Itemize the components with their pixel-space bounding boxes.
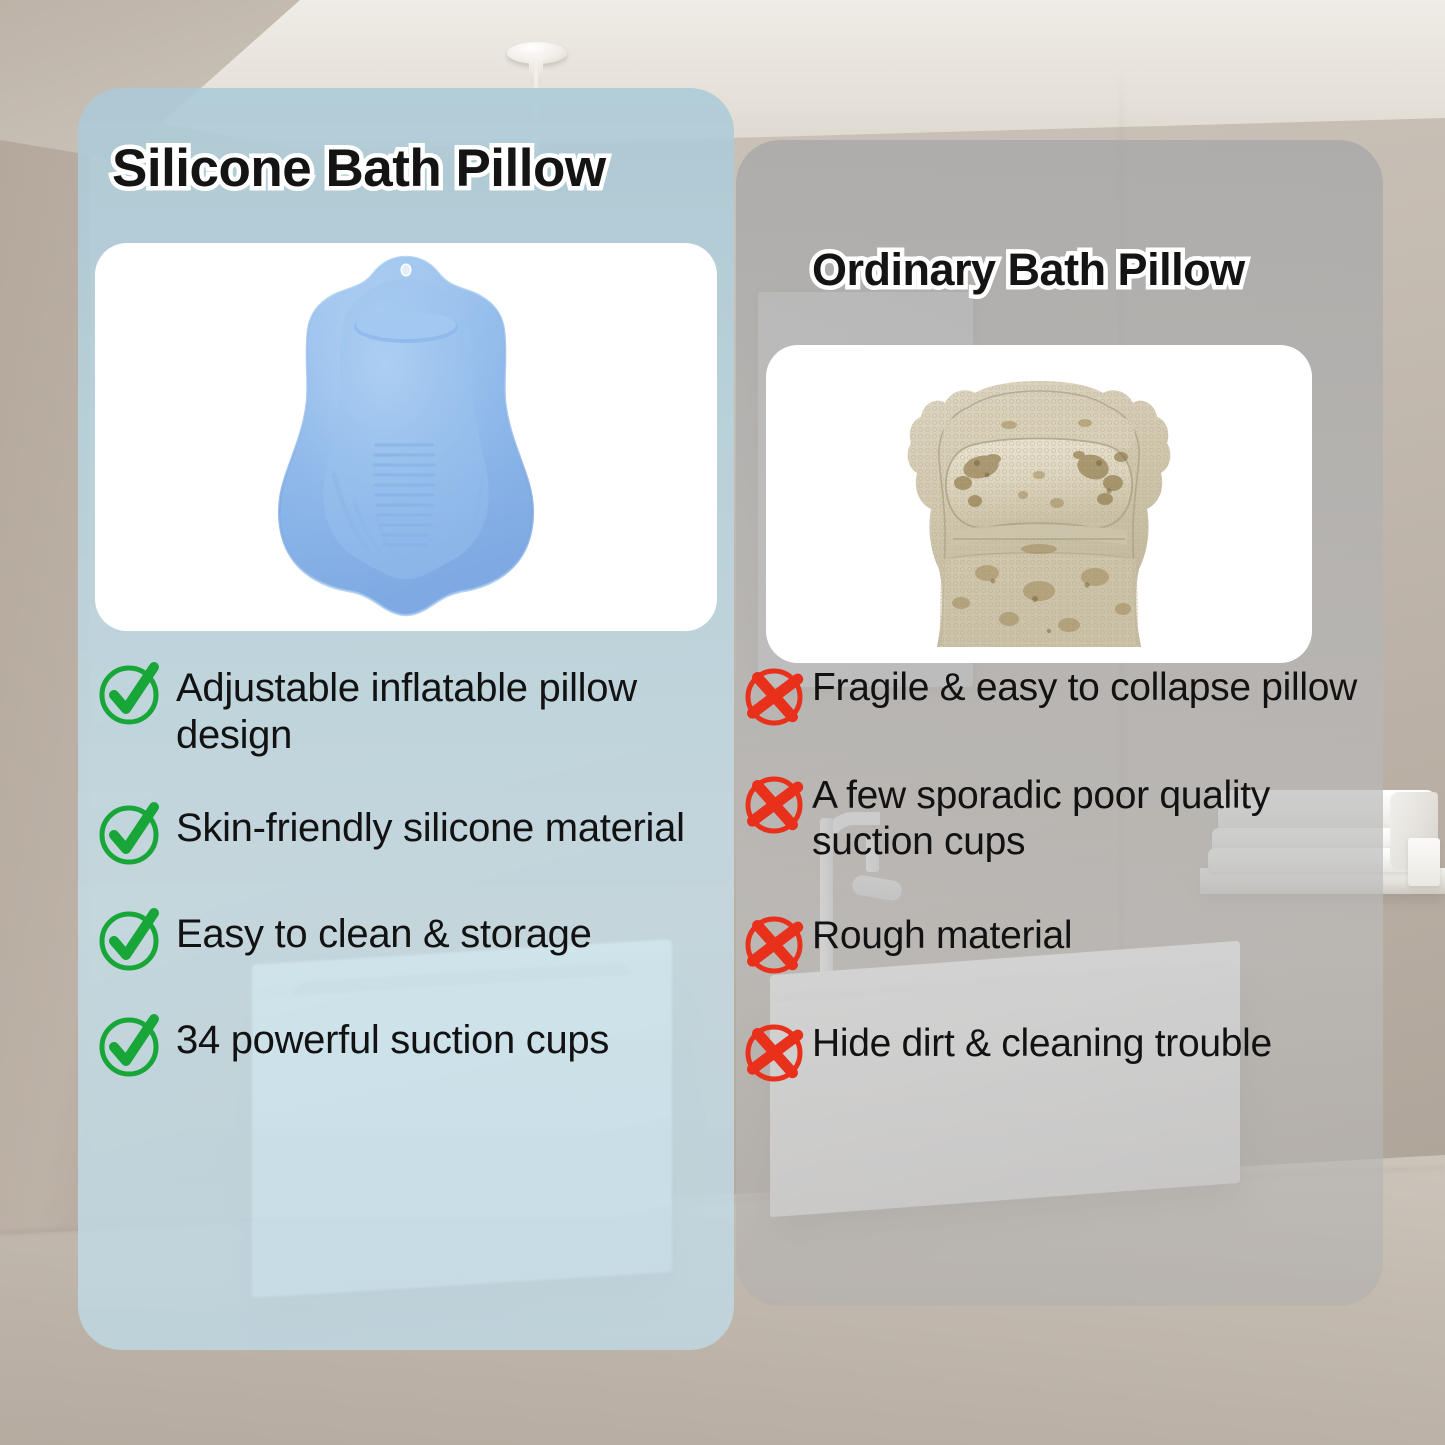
- check-circle-icon: [96, 803, 176, 865]
- list-item-label: 34 powerful suction cups: [176, 1015, 726, 1064]
- list-item-label: Skin-friendly silicone material: [176, 803, 726, 852]
- page-title-ordinary: Ordinary Bath Pillow: [812, 244, 1245, 296]
- list-item: Rough material: [738, 911, 1383, 973]
- feature-list-silicone: Adjustable inflatable pillow design Skin…: [96, 663, 726, 1121]
- comparison-panel-silicone: Silicone Bath Pillow: [78, 88, 734, 1350]
- x-circle-icon: [738, 911, 812, 973]
- dirty-mesh-pillow-icon: [889, 363, 1189, 659]
- list-item-label: Rough material: [812, 911, 1383, 959]
- check-circle-icon: [96, 1015, 176, 1077]
- list-item-label: Fragile & easy to collapse pillow: [812, 663, 1383, 711]
- list-item-label: Hide dirt & cleaning trouble: [812, 1019, 1383, 1067]
- list-item: A few sporadic poor quality suction cups: [738, 771, 1383, 865]
- product-photo-ordinary: [766, 345, 1312, 663]
- x-circle-icon: [738, 771, 812, 833]
- list-item: Fragile & easy to collapse pillow: [738, 663, 1383, 725]
- comparison-panel-ordinary: Ordinary Bath Pillow: [736, 140, 1383, 1306]
- silicone-pillow-illustration: [236, 249, 576, 621]
- silicone-pillow-icon: [236, 249, 576, 621]
- list-item-label: Easy to clean & storage: [176, 909, 726, 958]
- list-item: Skin-friendly silicone material: [96, 803, 726, 865]
- dirty-pillow-illustration: [889, 363, 1189, 659]
- product-photo-silicone: [95, 243, 717, 631]
- x-circle-icon: [738, 1019, 812, 1081]
- x-circle-icon: [738, 663, 812, 725]
- list-item: Easy to clean & storage: [96, 909, 726, 971]
- page-title-silicone: Silicone Bath Pillow: [112, 138, 606, 199]
- check-circle-icon: [96, 663, 176, 725]
- list-item-label: Adjustable inflatable pillow design: [176, 663, 726, 759]
- list-item: 34 powerful suction cups: [96, 1015, 726, 1077]
- toiletry-bottle: [1408, 838, 1440, 886]
- list-item: Hide dirt & cleaning trouble: [738, 1019, 1383, 1081]
- feature-list-ordinary: Fragile & easy to collapse pillow A few …: [738, 663, 1383, 1127]
- check-circle-icon: [96, 909, 176, 971]
- list-item-label: A few sporadic poor quality suction cups: [812, 771, 1383, 865]
- list-item: Adjustable inflatable pillow design: [96, 663, 726, 759]
